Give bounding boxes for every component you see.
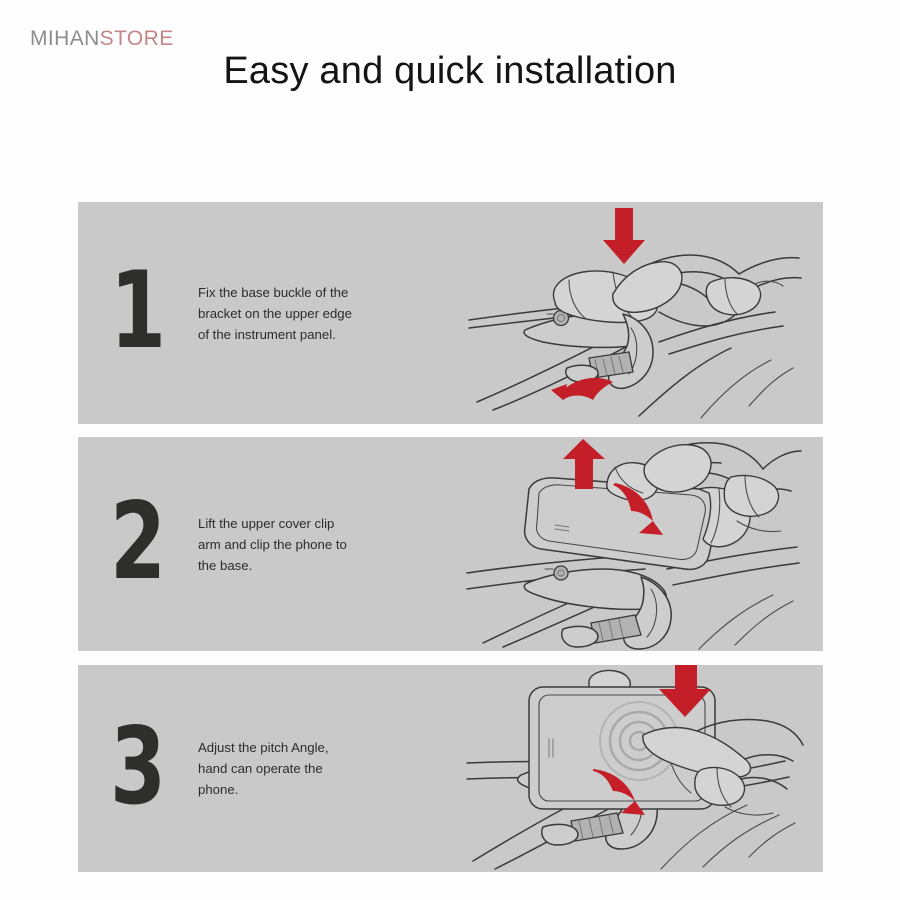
step-description-1: Fix the base buckle of the bracket on th… xyxy=(198,202,443,424)
step-3-line-1: Adjust the pitch Angle, xyxy=(198,737,329,758)
brand-logo-part-b: STORE xyxy=(100,27,174,50)
step-description-2: Lift the upper cover clip arm and clip t… xyxy=(198,437,443,651)
down-arrow-icon xyxy=(603,208,645,264)
step-number-2: 2 xyxy=(92,437,183,651)
step-2-illustration xyxy=(443,437,823,651)
step-2-line-3: the base. xyxy=(198,555,347,576)
step-panel-1: 1 Fix the base buckle of the bracket on … xyxy=(78,202,823,424)
step-panel-2: 2 Lift the upper cover clip arm and clip… xyxy=(78,437,823,651)
curved-arrow-icon xyxy=(551,378,613,400)
step-2-line-2: arm and clip the phone to xyxy=(198,534,347,555)
step-1-line-3: of the instrument panel. xyxy=(198,324,352,345)
step-description-3: Adjust the pitch Angle, hand can operate… xyxy=(198,665,443,872)
step-number-3: 3 xyxy=(92,665,183,872)
step-1-line-2: bracket on the upper edge xyxy=(198,303,352,324)
step-panel-3: 3 Adjust the pitch Angle, hand can opera… xyxy=(78,665,823,872)
product-infographic-page: MIHANSTORE Easy and quick installation 1… xyxy=(0,0,900,900)
step-3-illustration xyxy=(443,665,823,872)
step-3-line-2: hand can operate the xyxy=(198,758,329,779)
step-1-illustration xyxy=(443,202,823,424)
step-1-line-1: Fix the base buckle of the xyxy=(198,282,352,303)
step-3-line-3: phone. xyxy=(198,779,329,800)
brand-logo: MIHANSTORE xyxy=(30,27,174,51)
brand-logo-part-a: MIHAN xyxy=(30,27,100,50)
page-title: Easy and quick installation xyxy=(0,50,900,93)
step-2-line-1: Lift the upper cover clip xyxy=(198,513,347,534)
step-number-1: 1 xyxy=(92,202,183,424)
